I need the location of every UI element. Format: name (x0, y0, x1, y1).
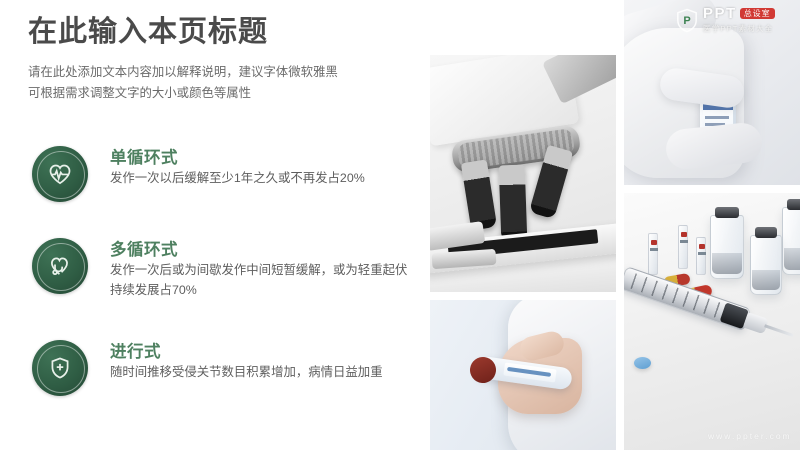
logo-badge: 总设室 (740, 8, 775, 19)
subtitle-line-2: 可根据需求调整文字的大小或颜色等属性 (28, 83, 408, 104)
feature-heading-2: 多循环式 (110, 236, 178, 260)
slide-root: 在此输入本页标题 请在此处添加文本内容加以解释说明，建议字体微软雅黑 可根据需求… (0, 0, 800, 450)
ppt-logo[interactable]: P PPT 总设室 医学PPT素材大全 (676, 6, 794, 34)
stethoscope-heart-icon (32, 238, 88, 294)
feature-item-1[interactable]: 单循环式 发作一次以后缓解至少1年之久或不再发占20% (28, 142, 418, 228)
shield-p-icon: P (676, 8, 698, 33)
heart-pulse-icon (32, 146, 88, 202)
subtitle-line-1: 请在此处添加文本内容加以解释说明，建议字体微软雅黑 (28, 62, 408, 83)
feature-heading-1: 单循环式 (110, 144, 178, 168)
microscope-photo (430, 55, 616, 292)
feature-body-2: 发作一次后或为间歇发作中间短暂缓解，或为轻重起伏持续发展占70% (110, 260, 410, 300)
feature-body-1: 发作一次以后缓解至少1年之久或不再发占20% (110, 168, 410, 188)
syringe-vials-photo (624, 193, 800, 450)
shield-letter: P (683, 15, 690, 27)
page-subtitle: 请在此处添加文本内容加以解释说明，建议字体微软雅黑 可根据需求调整文字的大小或颜… (28, 62, 408, 105)
blood-sample-photo (430, 300, 616, 450)
text-column: 在此输入本页标题 请在此处添加文本内容加以解释说明，建议字体微软雅黑 可根据需求… (0, 0, 420, 450)
feature-body-3: 随时间推移受侵关节数目积累增加，病情日益加重 (110, 362, 410, 382)
feature-heading-3: 进行式 (110, 338, 161, 362)
feature-item-3[interactable]: 进行式 随时间推移受侵关节数目积累增加，病情日益加重 (28, 336, 418, 422)
shield-plus-icon (32, 340, 88, 396)
logo-wordmark: PPT (703, 6, 737, 21)
feature-item-2[interactable]: 多循环式 发作一次后或为间歇发作中间短暂缓解，或为轻重起伏持续发展占70% (28, 234, 418, 320)
page-title: 在此输入本页标题 (28, 14, 268, 50)
logo-text-group: PPT 总设室 医学PPT素材大全 (703, 6, 775, 34)
site-watermark: www.ppter.com (708, 431, 792, 441)
logo-tagline: 医学PPT素材大全 (703, 23, 775, 34)
